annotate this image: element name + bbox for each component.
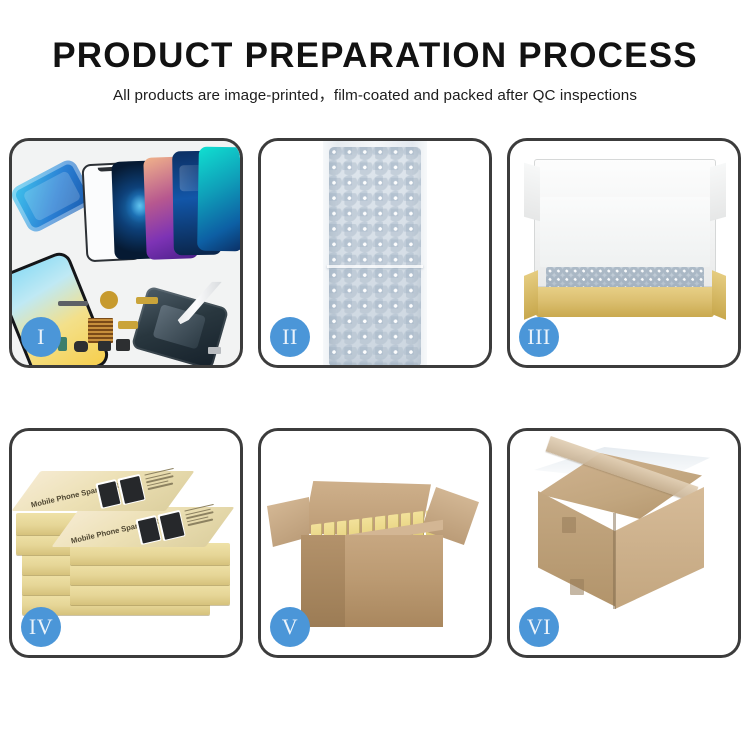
bubble-wrap-bubbles <box>329 147 421 365</box>
white-foam-sheet <box>540 197 710 267</box>
product-preparation-process-page: PRODUCT PREPARATION PROCESS All products… <box>0 0 750 750</box>
kraft-box-tray <box>536 287 714 317</box>
process-steps-grid: I II III <box>9 138 741 738</box>
step-panel-6[interactable]: VI <box>507 428 741 658</box>
step-badge-6: VI <box>519 607 559 647</box>
step-badge-1: I <box>21 317 61 357</box>
step-panel-3[interactable]: III <box>507 138 741 368</box>
carton-notch-top <box>562 517 576 533</box>
camera-module <box>116 339 130 351</box>
ic-chip-grid <box>88 318 113 343</box>
page-title: PRODUCT PREPARATION PROCESS <box>0 38 750 74</box>
step-badge-4: IV <box>21 607 61 647</box>
flex-cable-1 <box>136 297 158 304</box>
step-panel-4[interactable]: Mobile Phone Spare Parts Mobile Phone Sp… <box>9 428 243 658</box>
bubble-wrap-seam <box>327 265 423 268</box>
screw-set <box>208 347 221 354</box>
teal-gradient-phone <box>197 147 240 252</box>
step-panel-1[interactable]: I <box>9 138 243 368</box>
page-subtitle: All products are image-printed，film-coat… <box>0 87 750 105</box>
carton-vertical-seam <box>613 513 616 609</box>
step-panel-2[interactable]: II <box>258 138 492 368</box>
stacked-box-right-3 <box>70 583 230 605</box>
vibrator-motor <box>74 341 88 352</box>
header: PRODUCT PREPARATION PROCESS All products… <box>0 0 750 105</box>
step-badge-2: II <box>270 317 310 357</box>
step-badge-5: V <box>270 607 310 647</box>
step-badge-3: III <box>519 317 559 357</box>
stacked-box-right-2 <box>70 563 230 585</box>
earpiece-mesh <box>98 341 111 351</box>
antenna-strip <box>58 301 88 306</box>
carton-notch-bottom <box>570 579 584 595</box>
open-carton-body <box>301 535 443 627</box>
step-panel-5[interactable]: V <box>258 428 492 658</box>
gold-speaker-part <box>100 291 118 309</box>
bubble-wrap-sleeve <box>323 141 427 365</box>
flex-cable-2 <box>118 321 138 329</box>
